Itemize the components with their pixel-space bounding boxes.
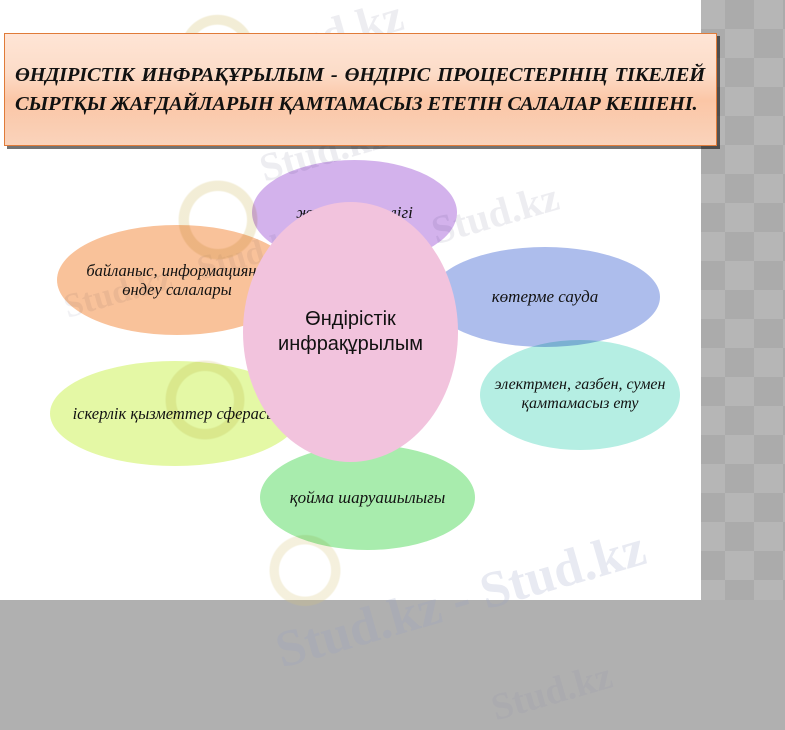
petal-right-top[interactable]: көтерме сауда	[430, 247, 660, 347]
petal-label: қойма шаруашылығы	[278, 488, 458, 508]
venn-petal-diagram: жүк тасу көлігі байланыс, информацияны ө…	[0, 150, 701, 600]
slide-root: Stud.kz Stud.kz - Stud.kz Stud.kz Stud.k…	[0, 0, 785, 600]
petal-bottom[interactable]: қойма шаруашылығы	[260, 445, 475, 550]
petal-label: іскерлік қызметтер сферасы	[61, 404, 290, 423]
petal-label: электрмен, газбен, сумен қамтамасыз ету	[480, 376, 680, 413]
watermark-text: Stud.kz	[486, 654, 617, 730]
diagram-center[interactable]: Өндірістік инфрақұрылым	[243, 202, 458, 462]
petal-right-bottom[interactable]: электрмен, газбен, сумен қамтамасыз ету	[480, 340, 680, 450]
petal-label: көтерме сауда	[480, 287, 611, 307]
center-label: Өндірістік инфрақұрылым	[243, 307, 458, 357]
slide-title-box: ӨНДІРІСТІК ИНФРАҚҰРЫЛЫМ - ӨНДІРІС ПРОЦЕС…	[4, 33, 717, 146]
page-title: ӨНДІРІСТІК ИНФРАҚҰРЫЛЫМ - ӨНДІРІС ПРОЦЕС…	[5, 59, 716, 121]
